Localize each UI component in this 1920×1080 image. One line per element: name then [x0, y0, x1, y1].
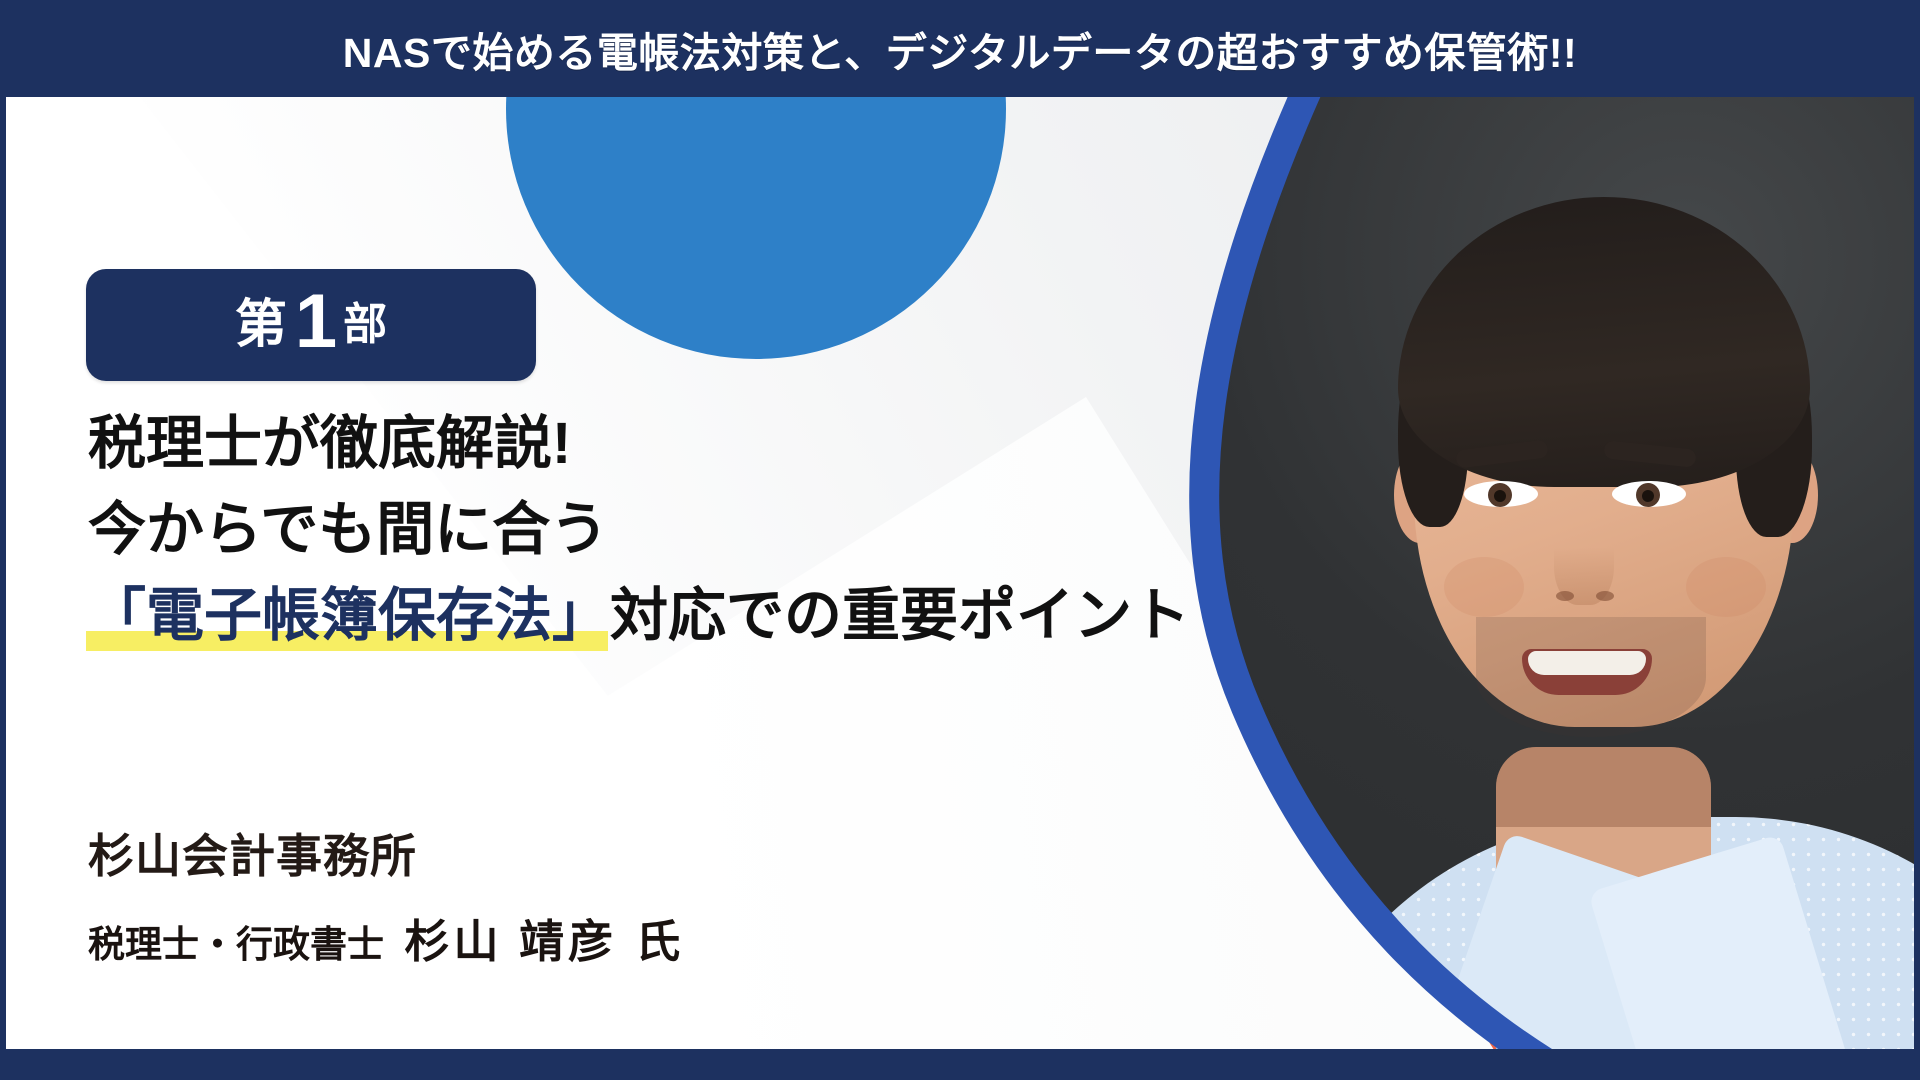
speaker-credential-line: 税理士・行政書士 杉山 靖彦 氏: [88, 905, 680, 970]
frame-bottom-edge: [0, 1049, 1920, 1080]
speaker-honorific: 氏: [635, 916, 680, 967]
session-title-line-3: 「電子帳簿保存法」対応での重要ポイント: [88, 587, 1190, 645]
speaker-name: 杉山 靖彦: [404, 916, 617, 967]
speaker-portrait-panel: [1126, 97, 1914, 1049]
frame-left-edge: [0, 97, 6, 1080]
frame-right-edge: [1914, 97, 1920, 1080]
text-column: 第 1 部 税理士が徹底解説! 今からでも間に合う 「電子帳簿保存法」対応での重…: [6, 97, 1156, 1049]
badge-prefix-label: 第: [235, 299, 287, 351]
session-title-emphasis: 「電子帳簿保存法」: [88, 583, 610, 648]
badge-number-label: 1: [295, 284, 337, 360]
speaker-organization: 杉山会計事務所: [88, 820, 417, 886]
part-number-badge: 第 1 部: [86, 269, 536, 381]
session-title-line-1: 税理士が徹底解説!: [88, 415, 571, 473]
slide-canvas: 第 1 部 税理士が徹底解説! 今からでも間に合う 「電子帳簿保存法」対応での重…: [6, 97, 1914, 1049]
session-title-remainder: 対応での重要ポイント: [610, 583, 1190, 648]
title-highlight-wrapper: 「電子帳簿保存法」: [88, 587, 610, 645]
webinar-title-slide: NASで始める電帳法対策と、デジタルデータの超おすすめ保管術!!: [0, 0, 1920, 1080]
session-title-line-2: 今からでも間に合う: [88, 501, 608, 559]
speaker-role: 税理士・行政書士: [88, 924, 384, 965]
blue-ribbon-outline: [1126, 97, 1914, 1049]
header-title: NASで始める電帳法対策と、デジタルデータの超おすすめ保管術!!: [343, 19, 1577, 79]
header-banner: NASで始める電帳法対策と、デジタルデータの超おすすめ保管術!!: [0, 0, 1920, 97]
badge-suffix-label: 部: [343, 303, 387, 347]
